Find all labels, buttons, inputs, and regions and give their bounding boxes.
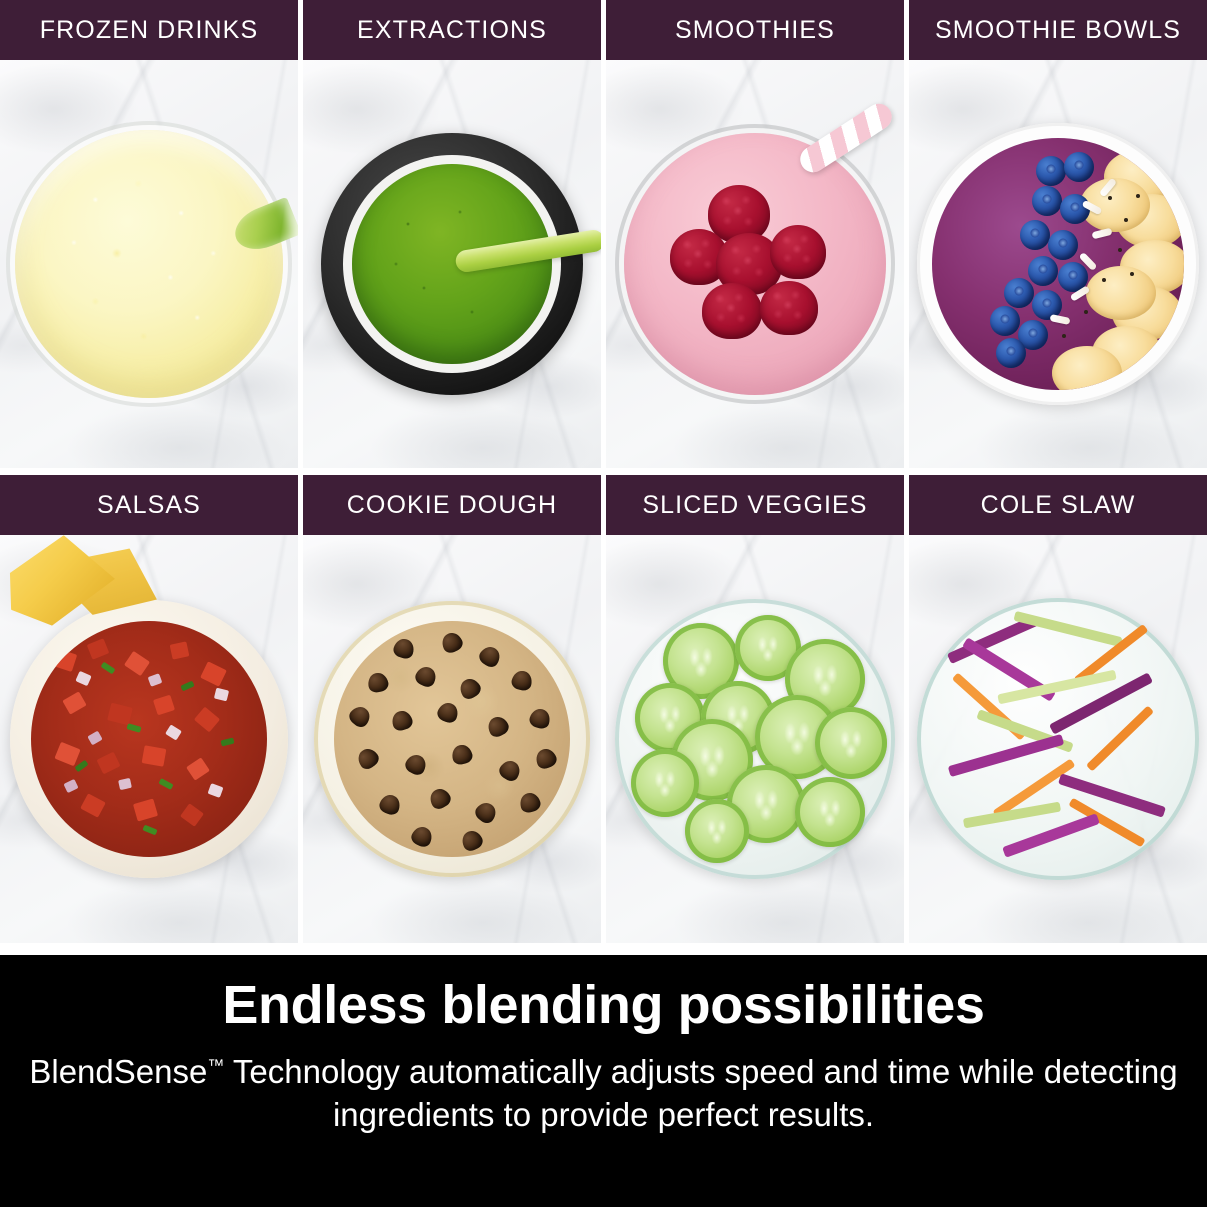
blueberry: [1048, 230, 1078, 260]
margarita-glass: [15, 130, 283, 398]
chocolate-chip: [409, 824, 435, 849]
chia-seed: [1118, 248, 1122, 252]
chia-seed: [1108, 196, 1112, 200]
tomato-dice: [170, 641, 190, 659]
tomato-dice: [133, 798, 158, 821]
cell-label-text: SALSAS: [97, 491, 201, 520]
cucumber-slice: [685, 799, 749, 863]
tomato-dice: [194, 707, 220, 733]
feature-cell-sliced-veggies: SLICED VEGGIES: [606, 475, 904, 943]
tomato-dice: [124, 651, 150, 676]
feature-cell-smoothie-bowls: SMOOTHIE BOWLS: [909, 0, 1207, 468]
cell-label-band: SALSAS: [0, 475, 298, 535]
chocolate-chip: [528, 707, 552, 731]
feature-grid: FROZEN DRINKS EXTRACTIONS: [0, 0, 1207, 955]
footer-body-copy: BlendSense™ Technology automatically adj…: [29, 1051, 1179, 1135]
feature-cell-frozen-drinks: FROZEN DRINKS: [0, 0, 298, 468]
tomato-dice: [80, 793, 106, 817]
blueberry: [990, 306, 1020, 336]
chocolate-chip: [450, 743, 474, 766]
banana-slice: [1086, 266, 1156, 320]
cell-photo-smoothie-bowls: [909, 60, 1207, 468]
chocolate-chip: [439, 630, 465, 655]
frozen-foam-texture: [15, 130, 283, 398]
chocolate-chip: [472, 799, 499, 826]
cell-photo-cookie-dough: [303, 535, 601, 943]
cell-photo-smoothies: [606, 60, 904, 468]
cilantro-bit: [220, 738, 234, 747]
footer-body-rest: Technology automatically adjusts speed a…: [224, 1053, 1177, 1132]
cell-photo-extractions: [303, 60, 601, 468]
cell-label-text: COLE SLAW: [981, 491, 1136, 520]
cilantro-bit: [74, 760, 88, 772]
raspberry: [760, 281, 818, 335]
cucumber-bowl: [615, 599, 895, 879]
chocolate-chip: [377, 792, 402, 817]
chia-seed: [1130, 272, 1134, 276]
blueberry: [1060, 194, 1090, 224]
feature-cell-cole-slaw: COLE SLAW: [909, 475, 1207, 943]
cell-photo-cole-slaw: [909, 535, 1207, 943]
cilantro-bit: [101, 662, 116, 675]
chocolate-chip: [354, 745, 381, 772]
cell-label-band: COLE SLAW: [909, 475, 1207, 535]
cell-label-band: FROZEN DRINKS: [0, 0, 298, 60]
carrot-shred: [1086, 705, 1154, 771]
chocolate-chip: [390, 708, 415, 732]
onion-dice: [118, 778, 132, 790]
chia-seed: [1084, 310, 1088, 314]
onion-dice: [148, 673, 163, 687]
green-juice: [352, 164, 552, 364]
chocolate-chip: [533, 746, 559, 771]
cell-label-text: SMOOTHIE BOWLS: [935, 16, 1181, 45]
cilantro-bit: [142, 825, 157, 836]
chocolate-chip: [510, 669, 534, 692]
black-rim-cup: [321, 133, 583, 395]
raspberry: [770, 225, 826, 279]
chocolate-chip: [459, 828, 485, 854]
red-cabbage-shred: [1002, 813, 1100, 858]
chocolate-chip: [403, 751, 430, 777]
footer-message-panel: Endless blending possibilities BlendSens…: [0, 955, 1207, 1207]
cell-label-band: SMOOTHIES: [606, 0, 904, 60]
tomato-dice: [186, 757, 210, 780]
cell-label-band: EXTRACTIONS: [303, 0, 601, 60]
cell-label-band: SLICED VEGGIES: [606, 475, 904, 535]
chocolate-chip: [518, 791, 542, 815]
tomato-dice: [180, 803, 204, 827]
blueberry: [1020, 220, 1050, 250]
onion-dice: [208, 783, 224, 798]
chocolate-chip: [435, 700, 461, 725]
product-feature-image: FROZEN DRINKS EXTRACTIONS: [0, 0, 1207, 1207]
onion-dice: [75, 671, 91, 686]
tomato-dice: [142, 745, 167, 767]
pico-de-gallo: [31, 621, 267, 857]
blueberry: [1036, 156, 1066, 186]
acai-bowl: [917, 123, 1199, 405]
chia-seed: [1062, 334, 1066, 338]
chocolate-chip: [485, 713, 512, 739]
cucumber-slice: [631, 749, 699, 817]
cilantro-bit: [180, 681, 194, 692]
cilantro-bit: [158, 778, 173, 790]
feature-cell-smoothies: SMOOTHIES: [606, 0, 904, 468]
cookie-dough: [334, 621, 570, 857]
feature-cell-extractions: EXTRACTIONS: [303, 0, 601, 468]
cell-label-text: COOKIE DOUGH: [347, 491, 557, 520]
tomato-dice: [153, 695, 175, 716]
chia-seed: [1136, 194, 1140, 198]
brand-name-blendsense: BlendSense: [29, 1053, 207, 1090]
cilantro-bit: [126, 723, 141, 733]
onion-dice: [63, 779, 78, 793]
blueberry: [1032, 186, 1062, 216]
chocolate-chip: [413, 664, 439, 690]
feature-cell-salsas: SALSAS: [0, 475, 298, 943]
chocolate-chip: [496, 757, 523, 784]
chocolate-chip: [392, 636, 417, 660]
raspberry: [702, 283, 762, 339]
blueberry: [1064, 152, 1094, 182]
cucumber-slice: [795, 777, 865, 847]
cell-photo-sliced-veggies: [606, 535, 904, 943]
cell-label-text: EXTRACTIONS: [357, 16, 547, 45]
blueberry: [1004, 278, 1034, 308]
cell-label-text: SMOOTHIES: [675, 16, 835, 45]
acai-puree-base: [932, 138, 1184, 390]
tomato-dice: [200, 661, 227, 686]
tomato-dice: [107, 703, 133, 726]
cell-photo-frozen-drinks: [0, 60, 298, 468]
chocolate-chip: [427, 785, 454, 811]
smoothie-glass: [624, 133, 886, 395]
tomato-dice: [62, 691, 86, 714]
chia-seed: [1102, 278, 1106, 282]
blueberry: [996, 338, 1026, 368]
tomato-dice: [54, 742, 80, 767]
chocolate-chip: [366, 671, 390, 694]
cookie-dough-bowl: [314, 601, 590, 877]
tomato-dice: [96, 752, 120, 775]
onion-dice: [165, 724, 182, 740]
cell-label-band: SMOOTHIE BOWLS: [909, 0, 1207, 60]
chocolate-chip: [346, 703, 374, 730]
trademark-symbol: ™: [207, 1056, 224, 1075]
salsa-bowl: [10, 600, 288, 878]
blueberry: [1028, 256, 1058, 286]
footer-headline: Endless blending possibilities: [222, 975, 984, 1035]
tomato-dice: [51, 648, 77, 672]
cell-label-text: FROZEN DRINKS: [40, 16, 258, 45]
onion-dice: [214, 688, 229, 702]
cucumber-slice: [815, 707, 887, 779]
feature-cell-cookie-dough: COOKIE DOUGH: [303, 475, 601, 943]
cell-photo-salsas: [0, 535, 298, 943]
chia-seed: [1124, 218, 1128, 222]
cole-slaw-bowl: [917, 598, 1199, 880]
chocolate-chip: [476, 643, 503, 670]
cell-label-text: SLICED VEGGIES: [642, 491, 867, 520]
onion-dice: [87, 731, 102, 746]
tomato-dice: [87, 638, 110, 660]
cell-label-band: COOKIE DOUGH: [303, 475, 601, 535]
chocolate-chip: [456, 675, 483, 702]
